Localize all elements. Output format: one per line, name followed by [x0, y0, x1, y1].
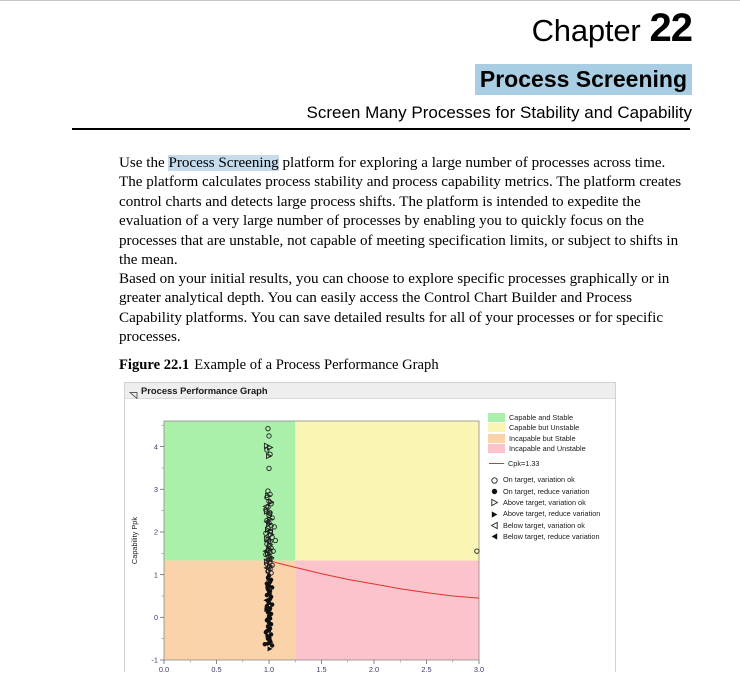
legend-swatch-label: Incapable and Unstable — [509, 444, 586, 453]
chapter-number: 22 — [650, 6, 693, 50]
paragraph-2: Based on your initial results, you can c… — [119, 270, 691, 348]
x-tick-label: 0.0 — [159, 665, 169, 672]
legend-cpk-row: Cpk=1.33 — [488, 457, 614, 470]
page-title: Process Screening — [0, 66, 692, 93]
y-tick-label: 1 — [154, 570, 158, 579]
panel-body: 0.00.51.01.52.02.53.0-101234Stability In… — [125, 399, 615, 672]
legend-swatch-label: Capable but Unstable — [509, 423, 579, 432]
legend-swatch-label: Capable and Stable — [509, 413, 573, 422]
legend-marker-label: Below target, reduce variation — [503, 532, 600, 541]
paragraph-1-pre: Use the — [119, 155, 168, 171]
legend-color-swatch — [488, 434, 505, 443]
x-tick-label: 2.5 — [421, 665, 431, 672]
quadrant-incapable-but-stable — [164, 561, 295, 660]
legend-swatch-label: Incapable but Stable — [509, 434, 576, 443]
legend-marker-row: On target, reduce variation — [488, 485, 614, 496]
quadrant-incapable-and-unstable — [295, 561, 479, 660]
legend-marker-label: Below target, variation ok — [503, 521, 585, 530]
figure-caption-label: Figure 22.1 — [119, 357, 189, 373]
chapter-word: Chapter — [532, 13, 641, 48]
figure-caption: Figure 22.1Example of a Process Performa… — [119, 357, 691, 374]
process-performance-chart: 0.00.51.01.52.02.53.0-101234Stability In… — [125, 399, 615, 672]
process-performance-graph-panel: Process Performance Graph 0.00.51.01.52.… — [124, 382, 616, 672]
open-right-triangle-icon — [488, 497, 501, 508]
panel-title-label: Process Performance Graph — [141, 385, 268, 396]
filled-left-triangle-icon — [488, 531, 501, 542]
inline-highlight-process-screening: Process Screening — [168, 155, 278, 171]
y-tick-label: -1 — [151, 656, 158, 665]
legend-marker-label: Above target, reduce variation — [503, 509, 600, 518]
x-tick-label: 3.0 — [474, 665, 484, 672]
legend-swatch-row: Capable but Unstable — [488, 423, 614, 434]
legend-marker-row: On target, variation ok — [488, 474, 614, 485]
legend-swatch-group: Capable and StableCapable but UnstableIn… — [488, 412, 614, 454]
page-top-rule — [0, 0, 740, 1]
x-tick-label: 1.5 — [316, 665, 326, 672]
y-tick-label: 2 — [154, 528, 158, 537]
legend-color-swatch — [488, 413, 505, 422]
cpk-line-icon — [489, 463, 504, 464]
legend-marker-group: On target, variation okOn target, reduce… — [488, 470, 614, 542]
chapter-heading: Chapter22 — [0, 6, 692, 51]
legend-swatch-row: Incapable but Stable — [488, 433, 614, 444]
x-tick-label: 2.0 — [369, 665, 379, 672]
quadrant-capable-but-unstable — [295, 421, 479, 561]
triangle-down-icon[interactable] — [129, 386, 138, 395]
legend-swatch-row: Incapable and Unstable — [488, 444, 614, 455]
legend-marker-row: Above target, variation ok — [488, 497, 614, 508]
legend-marker-label: On target, variation ok — [503, 475, 575, 484]
quadrant-capable-and-stable — [164, 421, 295, 561]
header-divider — [72, 128, 690, 130]
legend-cpk-label: Cpk=1.33 — [508, 459, 539, 468]
y-tick-label: 3 — [154, 485, 158, 494]
legend-color-swatch — [488, 423, 505, 432]
page-subtitle: Screen Many Processes for Stability and … — [0, 103, 692, 123]
legend-marker-label: Above target, variation ok — [503, 498, 586, 507]
paragraph-1: Use the Process Screening platform for e… — [119, 154, 691, 270]
panel-titlebar[interactable]: Process Performance Graph — [125, 383, 615, 399]
paragraph-1-post: platform for exploring a large number of… — [119, 155, 681, 268]
legend-marker-row: Below target, reduce variation — [488, 531, 614, 542]
open-left-triangle-icon — [488, 520, 501, 531]
legend-marker-row: Above target, reduce variation — [488, 508, 614, 519]
open-circle-icon — [488, 474, 501, 485]
y-axis-title: Capability Ppk — [130, 517, 139, 565]
legend-marker-label: On target, reduce variation — [503, 487, 589, 496]
filled-right-triangle-icon — [488, 508, 501, 519]
legend-swatch-row: Capable and Stable — [488, 412, 614, 423]
y-tick-label: 4 — [154, 442, 158, 451]
legend-color-swatch — [488, 444, 505, 453]
x-tick-label: 0.5 — [211, 665, 221, 672]
page-title-text: Process Screening — [475, 64, 692, 95]
filled-circle-icon — [488, 485, 501, 496]
chart-legend: Capable and StableCapable but UnstableIn… — [488, 412, 614, 542]
x-tick-label: 1.0 — [264, 665, 274, 672]
figure-caption-text: Example of a Process Performance Graph — [194, 357, 438, 373]
y-tick-label: 0 — [154, 613, 158, 622]
legend-marker-row: Below target, variation ok — [488, 520, 614, 531]
